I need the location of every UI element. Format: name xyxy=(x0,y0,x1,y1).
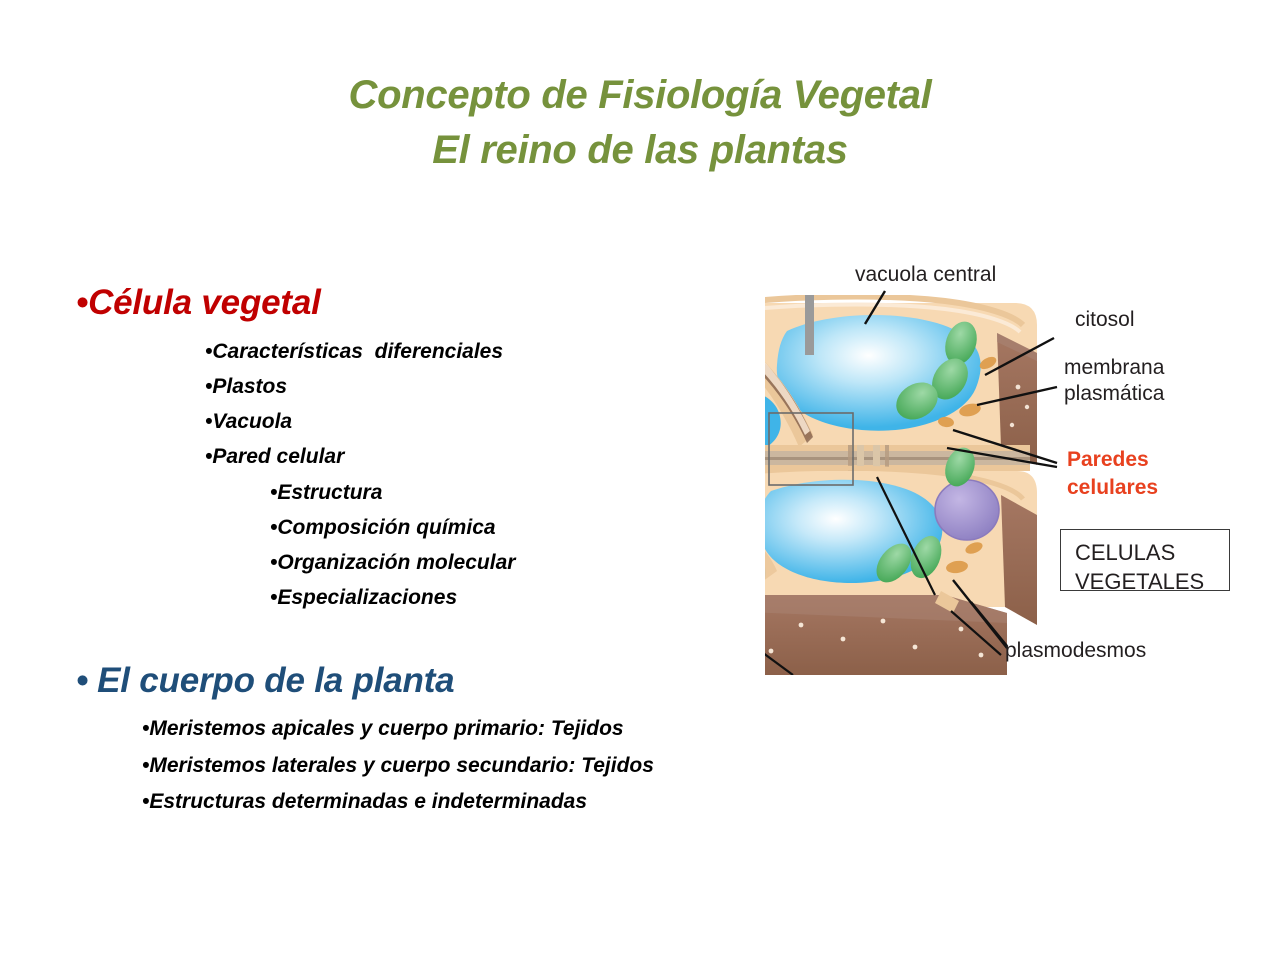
list-item: •Composición química xyxy=(270,516,496,539)
list-item: •Estructuras determinadas e indeterminad… xyxy=(142,790,587,813)
list-item-label: Plastos xyxy=(212,375,287,398)
section-heading-text: El cuerpo de la planta xyxy=(97,661,454,700)
label-membrana-plasmatica-line2: plasmática xyxy=(1064,381,1164,407)
list-item-label: Características diferenciales xyxy=(212,340,503,363)
list-item-label: Meristemos laterales y cuerpo secundario… xyxy=(149,754,654,777)
caption-line-2: VEGETALES xyxy=(1061,567,1229,596)
list-item-label: Estructuras determinadas e indeterminada… xyxy=(149,790,587,813)
list-item: •Pared celular xyxy=(205,445,344,468)
caption-line-1: CELULAS xyxy=(1061,530,1229,567)
bullet-dot-icon: • xyxy=(76,661,88,700)
list-item-label: Organización molecular xyxy=(277,551,515,574)
list-item: •Meristemos apicales y cuerpo primario: … xyxy=(142,717,624,740)
caption-box-celulas-vegetales: CELULAS VEGETALES xyxy=(1060,529,1230,591)
list-item: •Especializaciones xyxy=(270,586,457,609)
label-paredes-celulares-line2: celulares xyxy=(1067,475,1158,501)
list-item: •Meristemos laterales y cuerpo secundari… xyxy=(142,754,654,777)
plant-cell-figure: vacuola central citosol membrana plasmát… xyxy=(757,250,1257,675)
list-item: •Características diferenciales xyxy=(205,340,503,363)
section-heading-cuerpo-planta: •El cuerpo de la planta xyxy=(76,662,454,701)
slide-root: Concepto de Fisiología Vegetal El reino … xyxy=(0,0,1280,960)
section-heading-text: Célula vegetal xyxy=(88,283,321,322)
plant-cell-illustration xyxy=(765,295,1050,675)
list-item-label: Pared celular xyxy=(212,445,344,468)
list-item: •Vacuola xyxy=(205,410,292,433)
section-heading-celula-vegetal: •Célula vegetal xyxy=(76,284,321,323)
bullet-dot-icon: • xyxy=(76,283,88,322)
label-vacuola-central: vacuola central xyxy=(855,262,996,288)
content-outline: •Célula vegetal •Características diferen… xyxy=(0,0,760,960)
label-paredes-celulares-line1: Paredes xyxy=(1067,447,1149,473)
list-item-label: Vacuola xyxy=(212,410,292,433)
list-item-label: Composición química xyxy=(277,516,495,539)
list-item-label: Meristemos apicales y cuerpo primario: T… xyxy=(149,717,623,740)
label-plasmodesmos: plasmodesmos xyxy=(1005,638,1146,664)
label-membrana-plasmatica-line1: membrana xyxy=(1064,355,1164,381)
list-item-label: Estructura xyxy=(277,481,382,504)
list-item: •Plastos xyxy=(205,375,287,398)
label-citosol: citosol xyxy=(1075,307,1135,333)
list-item-label: Especializaciones xyxy=(277,586,457,609)
list-item: •Estructura xyxy=(270,481,382,504)
list-item: •Organización molecular xyxy=(270,551,515,574)
